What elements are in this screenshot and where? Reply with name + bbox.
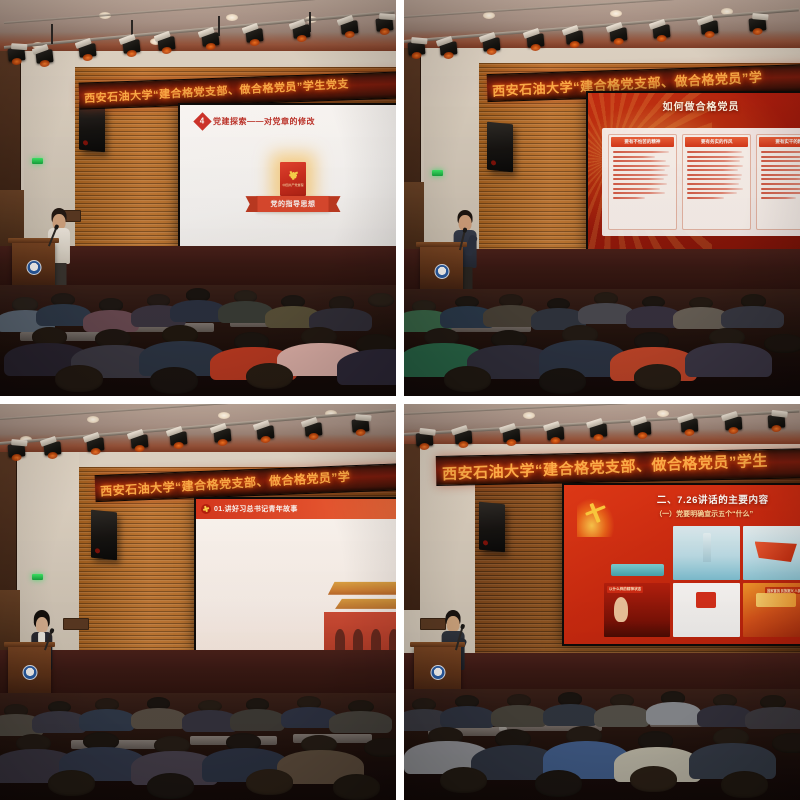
slide-badge-number: 4 [200,117,204,125]
text-line [209,593,375,595]
stage-lamp [526,34,544,48]
stage-lamp [455,431,473,445]
stage-lamp [122,40,140,55]
projection-screen: 01.讲好习总书记青年故事 [194,497,396,651]
slide-card: 要有实干的精神 [756,134,800,230]
text-line [613,160,666,162]
text-line [613,169,665,171]
exit-sign-icon [432,170,443,176]
audience-shoulders [491,705,546,727]
text-line [209,571,371,573]
lecture-hall-scene: 西安石油大学“建合格党支部、做合格党员”学 如何做合格党员 要有不怕苦的精神 [404,0,800,396]
stage-lamp [407,41,425,55]
audience-head [333,774,381,800]
university-emblem-icon [430,665,445,680]
text-line [613,178,664,180]
audience-head [246,363,294,390]
audience-shoulders [337,349,396,384]
text-line [209,579,378,581]
wall-plaque [63,618,89,630]
stage-lamp [681,419,699,433]
ceiling-light [483,12,495,19]
audience [404,289,800,396]
audience-head [55,365,103,392]
stage-lamp [35,49,53,64]
audience-shoulders [646,702,701,724]
exit-sign-icon [32,574,43,580]
side-door [0,51,21,201]
slide-card: 要有不怕苦的精神 [608,134,677,230]
text-line [209,586,367,588]
text-line [761,178,800,180]
slide-image-label: 国家富强 民族复兴 人民幸福 [765,587,800,594]
text-line [209,556,303,558]
audience-head [535,770,583,797]
text-line [613,156,656,158]
audience-shoulders [543,704,598,726]
slide-image-cell [673,526,739,580]
text-line [239,526,359,528]
stage-lamp [87,438,105,452]
stage-lamp [257,425,275,439]
text-line [761,197,795,199]
stage-lamp [170,431,188,445]
stage-lamp [43,441,61,455]
text-line [613,188,661,190]
audience-head [246,769,294,795]
wall-loudspeaker [79,102,105,152]
book-caption: 中国共产党章程 [283,183,304,187]
audience-shoulders [230,709,285,730]
stage-lamp [653,24,671,38]
university-emblem-icon [22,665,37,680]
stage-lamp [201,32,219,47]
text-line [687,178,740,180]
slide-card-body [611,149,674,227]
text-line [613,192,665,194]
podium [12,242,56,290]
text-line [209,608,322,610]
text-line [613,183,667,185]
text-line [761,156,800,158]
stage-lamp [292,24,310,39]
collage-panel-bottom-left: 西安石油大学“建合格党支部、做合格党员”学 01.讲好习总书记青年故事 [0,404,396,800]
ceiling-light [226,14,238,21]
stage-lamp [79,43,97,58]
exit-sign-icon [32,158,43,164]
slide-image-cell [604,526,670,580]
stage-lamp [724,417,742,431]
audience-shoulders [79,709,134,730]
stage-lamp [748,17,766,31]
text-line [239,564,356,566]
text-line [761,160,800,162]
lamp-hanger [51,24,53,44]
stage-lamp [7,47,25,62]
university-emblem-icon [434,264,449,279]
event-banner-text: 西安石油大学“建合格党支部、做合格党员”学生 [436,449,768,484]
text-line [687,151,742,153]
collage-panel-bottom-right: 西安石油大学“建合格党支部、做合格党员”学生 二、7.26讲话的主要内容 （一）… [404,404,800,800]
stage-lamp [483,37,501,51]
text-line [209,534,378,536]
audience-head [634,364,682,390]
audience-head [539,368,587,394]
slide-image-cell [743,526,800,580]
podium [8,646,52,697]
slide-image-cell: 国家富强 民族复兴 人民幸福 [743,583,800,637]
stage-lamp [633,421,651,435]
audience-head [440,767,488,794]
text-line [687,169,737,171]
slide-card-group: 要有不怕苦的精神 [602,128,800,236]
audience-shoulders [131,708,186,729]
audience-shoulders [440,706,495,728]
text-line [687,192,737,194]
slide-image-cell: 以什么样的精神状态 [604,583,670,637]
audience [0,693,396,800]
audience-head [630,766,678,793]
stage-lamp [700,21,718,35]
text-line [761,183,800,185]
stage-lamp [609,27,627,41]
slide-title: 如何做合格党员 [588,98,800,113]
photo-collage: 西安石油大学“建合格党支部、做合格党员”学生党支 4 党建探索——对党章的修改 … [0,0,800,800]
slide-title: 二、7.26讲话的主要内容 [619,492,800,506]
slide-title: 01.讲好习总书记青年故事 [214,504,298,514]
side-door [404,444,421,610]
stage-lamp [376,17,394,32]
stage-lamp [158,36,176,51]
stage-lamp [340,21,358,36]
slide-image-cell [673,583,739,637]
slide-body-text [209,526,396,640]
wall-loudspeaker [479,502,505,552]
audience-head [444,366,492,392]
audience-shoulders [745,707,800,729]
lecture-hall-scene: 西安石油大学“建合格党支部、做合格党员”学生 二、7.26讲话的主要内容 （一）… [404,404,800,800]
text-line [687,174,742,176]
text-line [613,197,646,199]
audience [404,689,800,800]
text-line [761,188,800,190]
text-line [687,188,743,190]
stage-lamp [566,31,584,45]
stage-lamp [768,415,786,429]
text-line [761,192,800,194]
audience-head [368,293,394,307]
text-line [761,165,800,167]
side-door [0,452,17,610]
slide-title: 党建探索——对党章的修改 [213,116,315,127]
wall-loudspeaker [91,510,117,560]
wall-loudspeaker [487,121,513,171]
projection-screen: 4 党建探索——对党章的修改 中国共产党章程 党的指导思想 [178,103,396,250]
text-line [209,541,375,543]
stage-lamp [213,428,231,442]
slide-ribbon-label: 党的指导思想 [257,196,330,212]
audience-head [772,733,800,753]
collage-panel-top-right: 西安石油大学“建合格党支部、做合格党员”学 如何做合格党员 要有不怕苦的精神 [404,0,800,396]
stage-lamp [503,428,521,442]
party-emblem-icon [201,504,211,514]
slide-title-bar: 01.讲好习总书记青年故事 [196,499,396,519]
audience-shoulders [685,343,772,377]
text-line [761,174,800,176]
audience-shoulders [594,705,649,727]
slide-image-grid: 以什么样的精神状态 国家富强 民族复兴 人民幸福 [604,526,800,637]
text-line [209,549,382,551]
text-line [613,174,668,176]
ceiling-light [87,416,99,423]
text-line [209,601,360,603]
text-line [687,165,743,167]
stage-lamp [352,419,370,433]
audience-shoulders [721,306,784,327]
party-emblem-icon [288,170,299,181]
ceiling-light [218,412,230,419]
stage-lamp [7,443,25,457]
audience-head [364,738,396,757]
projection-screen: 二、7.26讲话的主要内容 （一）党要明确宣示五个“什么” 以什么样的精神状态 … [562,483,800,645]
university-emblem-icon [26,260,41,275]
stage-lamp [546,426,564,440]
slide-card: 要有务实的作风 [682,134,751,230]
slide-card-header: 要有务实的作风 [685,137,748,147]
audience-head [48,770,96,796]
projection-screen: 如何做合格党员 要有不怕苦的精神 [586,91,800,253]
party-constitution-book-icon: 中国共产党章程 [280,162,306,196]
text-line [761,151,800,153]
slide-subtitle: （一）党要明确宣示五个“什么” [609,509,799,519]
slide-card-header: 要有实干的精神 [759,137,800,147]
slide-title-row: 4 党建探索——对党章的修改 [196,115,315,128]
slide-card-body [685,149,748,227]
slide-image-label: 以什么样的精神状态 [607,586,643,593]
text-line [687,183,739,185]
collage-panel-top-left: 西安石油大学“建合格党支部、做合格党员”学生党支 4 党建探索——对党章的修改 … [0,0,396,396]
text-line [687,156,744,158]
audience-head [150,367,198,394]
audience [0,285,396,396]
slide-card-header: 要有不怕苦的精神 [611,137,674,147]
slide-badge-diamond-icon: 4 [193,112,211,130]
ceiling-light [523,412,535,419]
stage-lamp [304,422,322,436]
text-line [613,165,670,167]
text-line [687,197,724,199]
stage-lamp [130,435,148,449]
audience-head [721,771,769,798]
slide-card-body [759,149,800,227]
ceiling-light [610,10,622,17]
audience-shoulders [329,711,392,732]
podium [420,246,464,294]
text-line [613,151,669,153]
lecture-hall-scene: 西安石油大学“建合格党支部、做合格党员”学 01.讲好习总书记青年故事 [0,404,396,800]
text-line [687,160,740,162]
stage-lamp [415,433,433,447]
stage-lamp [590,424,608,438]
stage-lamp [439,41,457,55]
audience-head [764,334,800,353]
stage-lamp [245,28,263,43]
audience-head [147,773,195,799]
text-line [761,169,800,171]
lecture-hall-scene: 西安石油大学“建合格党支部、做合格党员”学生党支 4 党建探索——对党章的修改 … [0,0,396,396]
